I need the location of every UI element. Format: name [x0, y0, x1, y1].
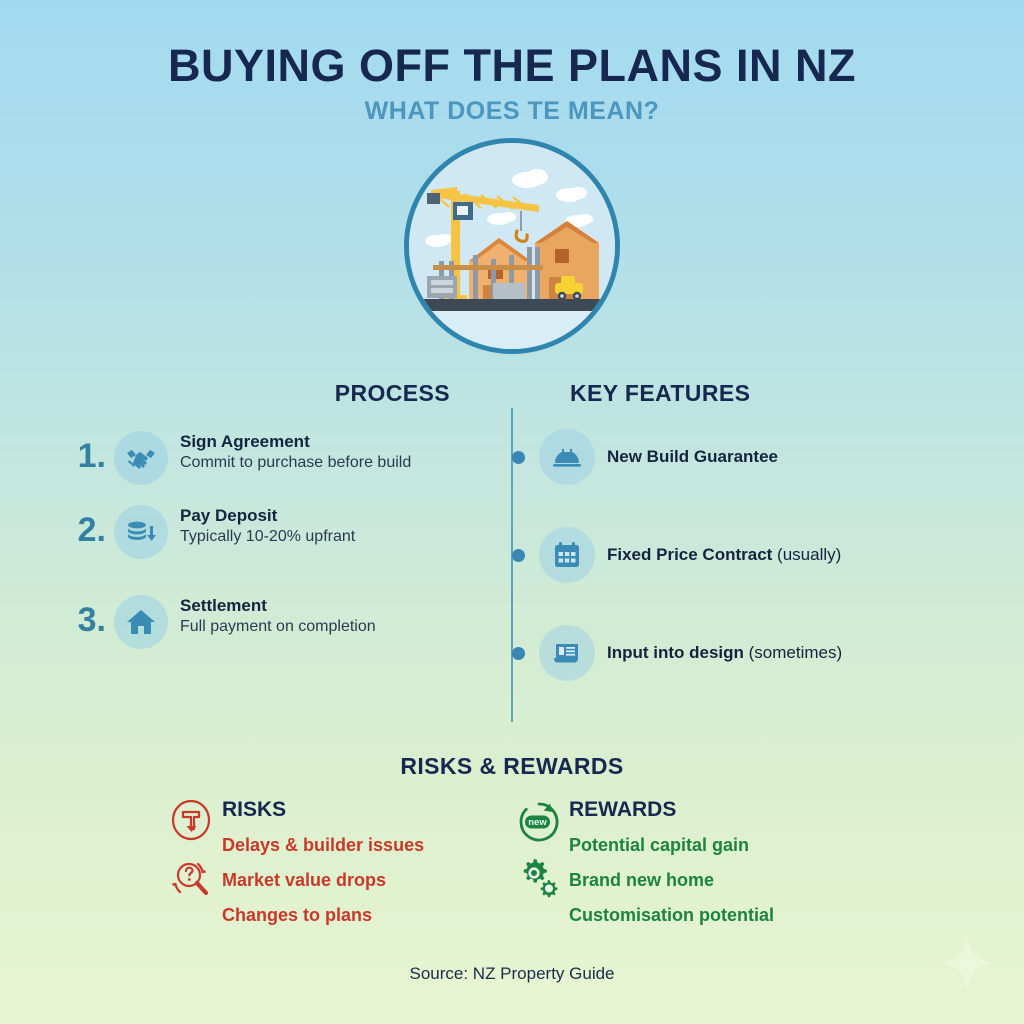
- key-features-column: KEY FEATURES New Build Guarantee Fixed P…: [512, 380, 964, 717]
- feature-label-wrap: Input into design (sometimes): [607, 642, 842, 664]
- step-desc: Typically 10-20% upfrant: [180, 527, 355, 548]
- risks-rewards-section: RISKS Delays & builder issues Market val…: [0, 798, 1024, 933]
- step-desc: Full payment on completion: [180, 617, 376, 638]
- blueprint-icon: [539, 625, 595, 681]
- coins-down-arrow-icon: [114, 505, 168, 559]
- process-step: 3. Settlement Full payment on completion: [60, 593, 512, 649]
- feature-item: Fixed Price Contract (usually): [512, 527, 964, 583]
- risk-item: Delays & builder issues: [222, 828, 517, 863]
- feature-item: New Build Guarantee: [512, 429, 964, 485]
- bullet-dot: [512, 647, 525, 660]
- rewards-title: REWARDS: [569, 798, 864, 822]
- crane-and-houses-icon: [409, 143, 615, 349]
- hard-hat-icon: [539, 429, 595, 485]
- feature-label: Input into design: [607, 643, 744, 662]
- reward-item: Brand new home: [569, 863, 864, 898]
- feature-label-wrap: New Build Guarantee: [607, 446, 778, 468]
- hammer-down-arrow-circle-icon: [170, 800, 212, 844]
- construction-illustration: [404, 138, 620, 354]
- reward-item: Customisation potential: [569, 898, 864, 933]
- gears-icon: [517, 856, 561, 900]
- step-title: Sign Agreement: [180, 431, 411, 452]
- feature-label: Fixed Price Contract: [607, 545, 772, 564]
- svg-text:new: new: [528, 817, 547, 828]
- key-features-heading: KEY FEATURES: [512, 380, 964, 407]
- step-number: 2.: [60, 503, 106, 547]
- bullet-dot: [512, 451, 525, 464]
- source-footer: Source: NZ Property Guide: [0, 964, 1024, 984]
- magnifier-question-icon: [170, 856, 212, 900]
- step-desc: Commit to purchase before build: [180, 453, 411, 474]
- rewards-column: new REWARDS Potential capital gain Brand…: [517, 798, 864, 933]
- rewards-icons: new: [517, 800, 561, 900]
- hero-illustration-wrapper: [0, 138, 1024, 354]
- step-text: Sign Agreement Commit to purchase before…: [180, 429, 411, 473]
- calendar-icon: [539, 527, 595, 583]
- step-text: Pay Deposit Typically 10-20% upfrant: [180, 503, 355, 547]
- step-title: Settlement: [180, 595, 376, 616]
- process-heading: PROCESS: [60, 380, 512, 407]
- risks-rewards-heading: RISKS & REWARDS: [0, 753, 1024, 780]
- feature-note: (usually): [772, 545, 841, 564]
- two-column-section: PROCESS 1. Sign Agreement Commit to purc…: [0, 380, 1024, 717]
- step-number: 1.: [60, 429, 106, 473]
- new-refresh-badge-icon: new: [517, 800, 561, 844]
- risks-icons: [170, 800, 212, 900]
- feature-label-wrap: Fixed Price Contract (usually): [607, 544, 841, 566]
- process-step: 2. Pay Deposit Typically 10-20% upfrant: [60, 503, 512, 559]
- feature-item: Input into design (sometimes): [512, 625, 964, 681]
- risks-column: RISKS Delays & builder issues Market val…: [170, 798, 517, 933]
- page-title: BUYING OFF THE PLANS IN NZ: [0, 42, 1024, 89]
- feature-note: (sometimes): [744, 643, 842, 662]
- bullet-dot: [512, 549, 525, 562]
- handshake-icon: [114, 431, 168, 485]
- step-number: 3.: [60, 593, 106, 637]
- header: BUYING OFF THE PLANS IN NZ WHAT DOES TE …: [0, 0, 1024, 126]
- process-column: PROCESS 1. Sign Agreement Commit to purc…: [60, 380, 512, 717]
- step-text: Settlement Full payment on completion: [180, 593, 376, 637]
- reward-item: Potential capital gain: [569, 828, 864, 863]
- process-step: 1. Sign Agreement Commit to purchase bef…: [60, 429, 512, 485]
- risks-title: RISKS: [222, 798, 517, 822]
- page-subtitle: WHAT DOES TE MEAN?: [0, 97, 1024, 126]
- risk-item: Changes to plans: [222, 898, 517, 933]
- step-title: Pay Deposit: [180, 505, 355, 526]
- risk-item: Market value drops: [222, 863, 517, 898]
- house-icon: [114, 595, 168, 649]
- sparkle-decoration-icon: [938, 934, 996, 992]
- feature-label: New Build Guarantee: [607, 447, 778, 466]
